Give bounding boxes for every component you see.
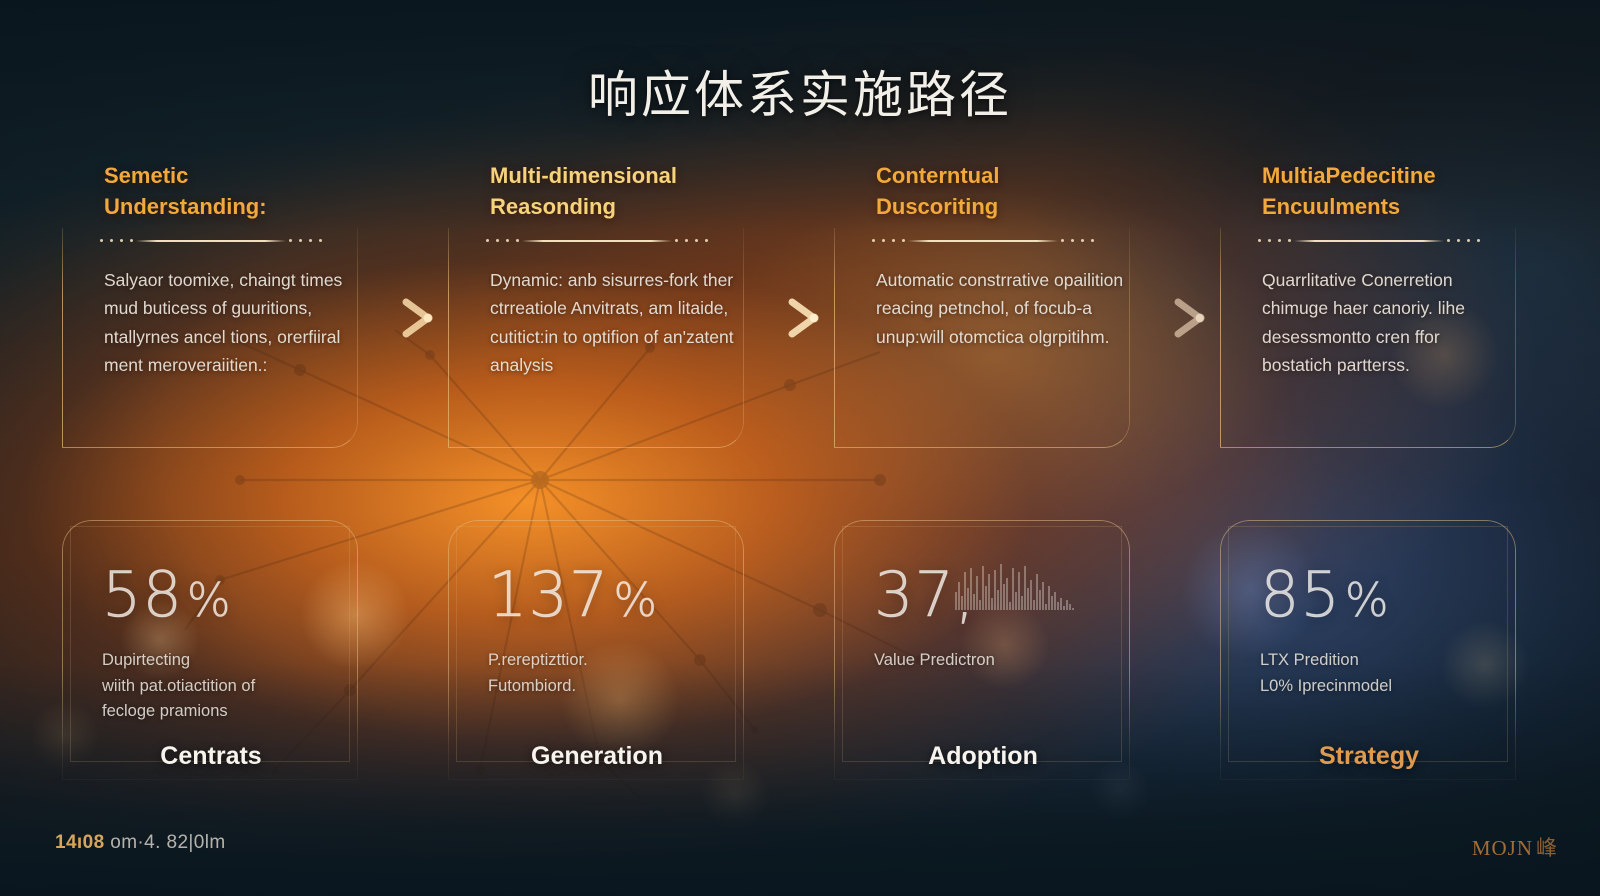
logo-cjk-mark: 峰 (1536, 836, 1558, 860)
process-card-heading: Multi-dimensionalReasonding (448, 160, 746, 222)
slide-canvas: 响应体系实施路径 SemeticUnderstanding: Salyaor t… (0, 0, 1600, 896)
stat-description: LTX PreditionL0% Iprecinmodel (1260, 648, 1504, 699)
footer-code: 14ı08 (55, 832, 105, 853)
stat-label: Adoption (834, 742, 1132, 771)
card-divider (486, 240, 708, 242)
process-card[interactable]: ConterntualDuscoriting Automatic constrr… (834, 160, 1132, 456)
chevron-right-icon (1160, 290, 1216, 346)
card-divider (100, 240, 322, 242)
stat-label: Generation (448, 742, 746, 771)
process-card[interactable]: SemeticUnderstanding: Salyaor toomixe, c… (62, 160, 360, 456)
page-title: 响应体系实施路径 (0, 55, 1600, 127)
card-divider (872, 240, 1094, 242)
stat-card[interactable]: 37, (834, 520, 1132, 792)
footer-meta-text: om·4. 82|0lm (105, 832, 226, 853)
card-divider (1258, 240, 1480, 242)
stat-description: Value Predictron (874, 648, 1118, 674)
stat-number: 85 (1260, 558, 1341, 631)
stat-description: Dupirtectingwiith pat.otiactition offecl… (102, 648, 346, 725)
stat-value: 58% (102, 558, 232, 631)
stat-label: Strategy (1220, 742, 1518, 771)
stat-value: 137% (488, 558, 658, 631)
stat-number: 58 (102, 558, 183, 631)
process-card-heading: MultiaPedecitineEncuulments (1220, 160, 1518, 222)
stat-value: 85% (1260, 558, 1390, 631)
process-card[interactable]: Multi-dimensionalReasonding Dynamic: anb… (448, 160, 746, 456)
stat-card-row: 58% Dupirtectingwiith pat.otiactition of… (62, 520, 1538, 800)
process-card-body: Quarrlitative Conerretion chimuge haer c… (1262, 266, 1512, 379)
stat-unit: % (187, 573, 232, 627)
stat-card[interactable]: 137% P.rereptizttior.Futombiord. Generat… (448, 520, 746, 792)
chevron-right-icon (388, 290, 444, 346)
process-card-body: Dynamic: anb sisurres-fork ther ctrreati… (490, 266, 740, 379)
stat-description: P.rereptizttior.Futombiord. (488, 648, 732, 699)
stat-card[interactable]: 85% LTX PreditionL0% Iprecinmodel Strate… (1220, 520, 1518, 792)
stat-number: 137 (488, 558, 609, 631)
logo-wordmark: MOJN (1472, 836, 1533, 860)
brand-logo: MOJN峰 (1472, 832, 1558, 862)
waveform-glyph-artifact (954, 562, 1084, 618)
process-card-body: Salyaor toomixe, chaingt times mud butic… (104, 266, 354, 379)
chevron-right-icon (774, 290, 830, 346)
process-card[interactable]: MultiaPedecitineEncuulments Quarrlitativ… (1220, 160, 1518, 456)
process-card-heading: ConterntualDuscoriting (834, 160, 1132, 222)
stat-label: Centrats (62, 742, 360, 771)
stat-unit: % (613, 573, 658, 627)
footer-meta: 14ı08 om·4. 82|0lm (55, 832, 226, 854)
process-card-heading: SemeticUnderstanding: (62, 160, 360, 222)
stat-card[interactable]: 58% Dupirtectingwiith pat.otiactition of… (62, 520, 360, 792)
process-card-body: Automatic constrrative opailition reacin… (876, 266, 1126, 351)
stat-unit: % (1345, 573, 1390, 627)
